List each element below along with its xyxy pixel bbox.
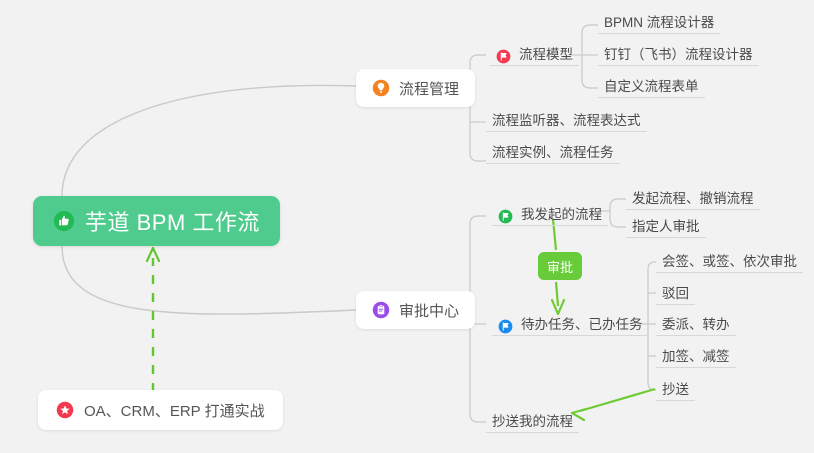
- node-add-remove-sign[interactable]: 加签、减签: [656, 344, 736, 368]
- wire-my-initiated-bracket: [610, 199, 626, 227]
- label-todo-done-tasks: 待办任务、已办任务: [521, 315, 643, 334]
- wire-process-model-bracket: [582, 25, 598, 88]
- branch-node-approval-center[interactable]: 审批中心: [356, 291, 475, 329]
- label-cc-to-me-process: 抄送我的流程: [492, 412, 573, 431]
- node-dingtalk-feishu-designer[interactable]: 钉钉（飞书）流程设计器: [598, 42, 759, 66]
- clipboard-icon: [372, 301, 390, 319]
- dashed-arrow-callout-to-root: [147, 248, 159, 392]
- node-assignee-approval[interactable]: 指定人审批: [626, 214, 706, 238]
- label-countersign: 会签、或签、依次审批: [662, 252, 797, 271]
- node-delegate-transfer[interactable]: 委派、转办: [656, 312, 736, 336]
- node-reject[interactable]: 驳回: [656, 281, 695, 305]
- branch-label-approval-center: 审批中心: [399, 300, 459, 321]
- branch-label-process-management: 流程管理: [399, 78, 459, 99]
- label-dingtalk-feishu-designer: 钉钉（飞书）流程设计器: [604, 45, 753, 64]
- root-node[interactable]: 芋道 BPM 工作流: [33, 196, 280, 246]
- label-reject: 驳回: [662, 284, 689, 303]
- callout-label: OA、CRM、ERP 打通实战: [84, 400, 265, 421]
- approval-tag[interactable]: 审批: [538, 252, 582, 280]
- node-process-model[interactable]: 流程模型: [490, 42, 579, 66]
- label-cc: 抄送: [662, 380, 689, 399]
- node-cc[interactable]: 抄送: [656, 377, 695, 401]
- flag-blue-icon: [498, 319, 513, 334]
- flag-red-icon: [496, 49, 511, 64]
- node-custom-process-form[interactable]: 自定义流程表单: [598, 74, 705, 98]
- wire-todo-done-bracket: [648, 262, 656, 390]
- mindmap-canvas: 芋道 BPM 工作流 流程管理 流程模型 BPMN 流程设计器 钉钉（飞书）流程…: [0, 0, 814, 453]
- approval-tag-label: 审批: [547, 257, 573, 276]
- label-start-cancel-process: 发起流程、撤销流程: [632, 189, 754, 208]
- wire-root-to-process-management: [62, 85, 356, 196]
- flag-green-icon: [498, 209, 513, 224]
- label-my-initiated-process: 我发起的流程: [521, 205, 602, 224]
- node-start-cancel-process[interactable]: 发起流程、撤销流程: [626, 186, 760, 210]
- node-my-initiated-process[interactable]: 我发起的流程: [492, 202, 608, 226]
- node-todo-done-tasks[interactable]: 待办任务、已办任务: [492, 312, 649, 336]
- node-process-listener-expression[interactable]: 流程监听器、流程表达式: [486, 108, 647, 132]
- root-label: 芋道 BPM 工作流: [85, 205, 260, 237]
- node-bpmn-designer[interactable]: BPMN 流程设计器: [598, 10, 720, 34]
- node-cc-to-me-process[interactable]: 抄送我的流程: [486, 409, 579, 433]
- wire-root-to-approval-center: [62, 246, 356, 314]
- label-delegate-transfer: 委派、转办: [662, 315, 730, 334]
- label-process-instance-task: 流程实例、流程任务: [492, 143, 614, 162]
- node-countersign[interactable]: 会签、或签、依次审批: [656, 249, 803, 273]
- star-icon: [56, 401, 74, 419]
- label-process-model: 流程模型: [519, 45, 573, 64]
- label-add-remove-sign: 加签、减签: [662, 347, 730, 366]
- label-bpmn-designer: BPMN 流程设计器: [604, 13, 714, 32]
- branch-node-process-management[interactable]: 流程管理: [356, 69, 475, 107]
- label-custom-process-form: 自定义流程表单: [604, 77, 699, 96]
- label-process-listener-expression: 流程监听器、流程表达式: [492, 111, 641, 130]
- thumbs-up-icon: [53, 210, 75, 232]
- lightbulb-icon: [372, 79, 390, 97]
- green-arrow-cc-link: [572, 389, 655, 420]
- label-assignee-approval: 指定人审批: [632, 217, 700, 236]
- node-process-instance-task[interactable]: 流程实例、流程任务: [486, 140, 620, 164]
- callout-node-integration[interactable]: OA、CRM、ERP 打通实战: [38, 390, 283, 430]
